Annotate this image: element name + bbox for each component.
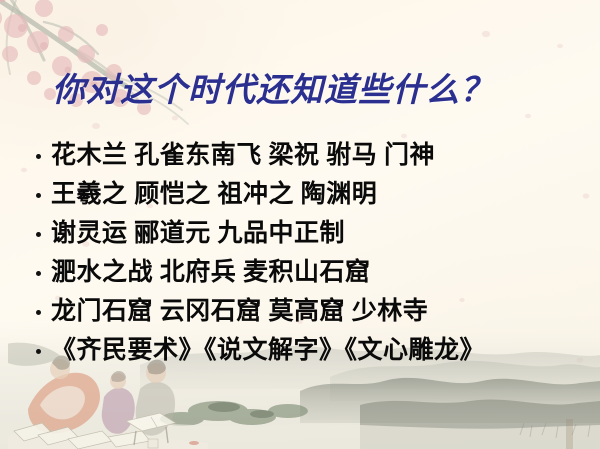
list-item: 淝水之战 北府兵 麦积山石窟 (32, 253, 582, 292)
list-item-label: 谢灵运 郦道元 九品中正制 (51, 220, 345, 247)
list-item-label: 《齐民要术》《说文解字》《文心雕龙》 (51, 337, 485, 364)
bullet-dot-icon (36, 193, 41, 198)
bullet-dot-icon (36, 349, 41, 354)
list-item: 王羲之 顾恺之 祖冲之 陶渊明 (32, 175, 582, 214)
bullet-list: 花木兰 孔雀东南飞 梁祝 驸马 门神 王羲之 顾恺之 祖冲之 陶渊明 谢灵运 郦… (32, 136, 582, 370)
bullet-dot-icon (36, 232, 41, 237)
slide-title: 你对这个时代还知道些什么？ (52, 63, 494, 111)
list-item-label: 花木兰 孔雀东南飞 梁祝 驸马 门神 (51, 142, 435, 169)
bullet-dot-icon (36, 310, 41, 315)
list-item-label: 淝水之战 北府兵 麦积山石窟 (51, 259, 371, 286)
list-item: 谢灵运 郦道元 九品中正制 (32, 214, 582, 253)
presentation-slide: 你对这个时代还知道些什么？ 花木兰 孔雀东南飞 梁祝 驸马 门神 王羲之 顾恺之… (0, 0, 600, 449)
list-item: 《齐民要术》《说文解字》《文心雕龙》 (32, 331, 582, 370)
bullet-dot-icon (36, 154, 41, 159)
list-item-label: 龙门石窟 云冈石窟 莫高窟 少林寺 (51, 298, 428, 325)
list-item: 花木兰 孔雀东南飞 梁祝 驸马 门神 (32, 136, 582, 175)
list-item-label: 王羲之 顾恺之 祖冲之 陶渊明 (51, 181, 377, 208)
bullet-dot-icon (36, 271, 41, 276)
list-item: 龙门石窟 云冈石窟 莫高窟 少林寺 (32, 292, 582, 331)
